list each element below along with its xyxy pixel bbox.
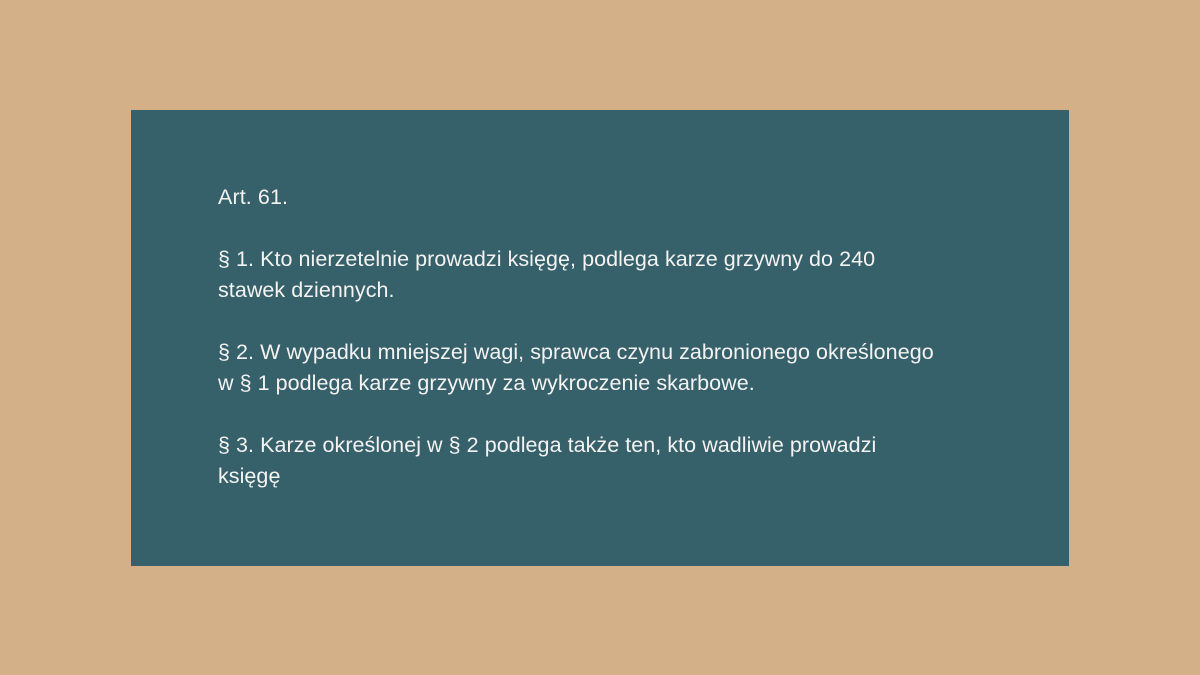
legal-text-block: Art. 61. § 1. Kto nierzetelnie prowadzi …	[218, 182, 958, 492]
paragraph-spacer	[218, 306, 958, 337]
slide-canvas: Art. 61. § 1. Kto nierzetelnie prowadzi …	[0, 0, 1200, 675]
paragraph-section-1: § 1. Kto nierzetelnie prowadzi księgę, p…	[218, 244, 944, 306]
article-heading: Art. 61.	[218, 182, 958, 213]
paragraph-section-2: § 2. W wypadku mniejszej wagi, sprawca c…	[218, 337, 944, 399]
paragraph-spacer	[218, 399, 958, 430]
paragraph-section-3: § 3. Karze określonej w § 2 podlega takż…	[218, 430, 944, 492]
paragraph-spacer	[218, 213, 958, 244]
legal-text-card: Art. 61. § 1. Kto nierzetelnie prowadzi …	[131, 110, 1069, 566]
